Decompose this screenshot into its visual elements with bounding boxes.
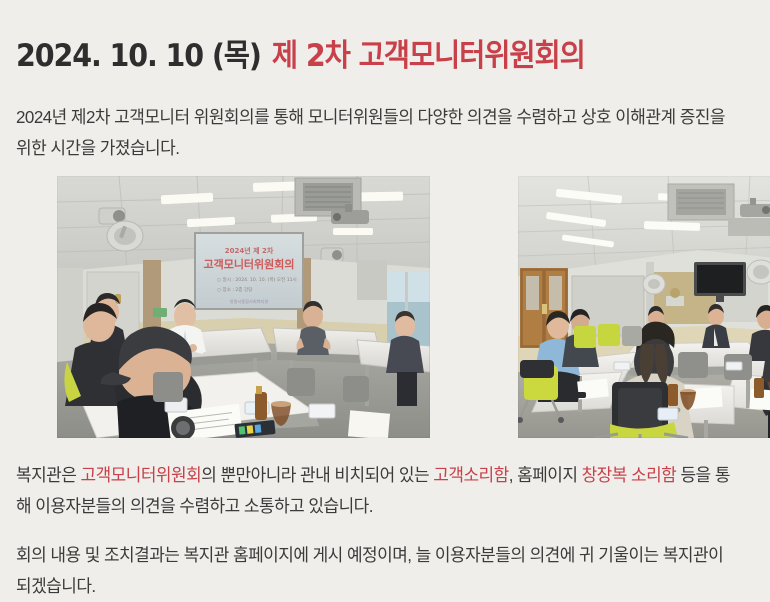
projection-screen: 2024년 제 2차 고객모니터위원회의 ○ 일시 : 2024. 10. 10… xyxy=(194,232,304,310)
channels-highlight-online-voice-box: 창장복 소리함 xyxy=(582,465,677,485)
wall-fan-right xyxy=(747,260,770,284)
page-title-date: 2024. 10. 10 (목) xyxy=(16,38,261,74)
channels-highlight-suggestion-box: 고객소리함 xyxy=(433,465,508,485)
slide-line-4: ○ 장소 : 2층 강당 xyxy=(217,286,253,293)
followup-paragraph: 회의 내용 및 조치결과는 복지관 홈페이지에 게시 예정이며, 늘 이용자분들… xyxy=(16,540,734,602)
wall-tv xyxy=(694,262,746,302)
photo-meeting-closeup: 2024년 제 2차 고객모니터위원회의 ○ 일시 : 2024. 10. 10… xyxy=(57,176,430,438)
followup-text: 회의 내용 및 조치결과는 복지관 홈페이지에 게시 예정이며, 늘 이용자분들… xyxy=(16,545,723,596)
slide-line-3: ○ 일시 : 2024. 10. 10. (목) 오전 11시 xyxy=(217,276,297,283)
article-page: 2024. 10. 10 (목)제 2차 고객모니터위원회의 2024년 제2차… xyxy=(0,0,770,600)
page-title: 2024. 10. 10 (목)제 2차 고객모니터위원회의 xyxy=(16,37,585,75)
wall-fan xyxy=(107,221,143,251)
intro-paragraph: 2024년 제2차 고객모니터 위원회의를 통해 모니터위원들의 다양한 의견을… xyxy=(16,102,734,164)
channels-seg-3: , 홈페이지 xyxy=(509,465,582,485)
slide-line-2: 고객모니터위원회의 xyxy=(203,257,294,271)
chair-back-row xyxy=(574,324,642,348)
photo-gallery: 2024년 제 2차 고객모니터위원회의 ○ 일시 : 2024. 10. 10… xyxy=(17,160,753,422)
channels-seg-1: 복지관은 xyxy=(16,465,81,485)
wall-fan-left xyxy=(643,274,665,294)
channels-paragraph: 복지관은 고객모니터위원회의 뿐만아니라 관내 비치되어 있는 고객소리함, 홈… xyxy=(16,460,734,522)
photo-meeting-wide: 2024년 제 2차 고객모니터위원회 ○ 일시 : 2024. 10. 10.… xyxy=(518,176,770,438)
intro-line-1: 2024년 제2차 고객모니터 위원회의를 통해 모니터위원들의 다양한 의견을… xyxy=(16,107,611,127)
slide-line-5: 창원시종합사회복지관 xyxy=(230,298,269,305)
channels-seg-2: 의 뿐만아니라 관내 비치되어 있는 xyxy=(201,465,433,485)
wall-speaker-right xyxy=(321,248,343,262)
slide-line-1: 2024년 제 2차 xyxy=(225,246,274,255)
photo-meeting-closeup-illustration: 2024년 제 2차 고객모니터위원회의 ○ 일시 : 2024. 10. 10… xyxy=(57,176,430,438)
channels-highlight-committee: 고객모니터위원회 xyxy=(81,465,202,485)
photo-meeting-wide-illustration: 2024년 제 2차 고객모니터위원회 ○ 일시 : 2024. 10. 10.… xyxy=(518,176,770,438)
page-title-topic: 제 2차 고객모니터위원회의 xyxy=(272,38,585,74)
